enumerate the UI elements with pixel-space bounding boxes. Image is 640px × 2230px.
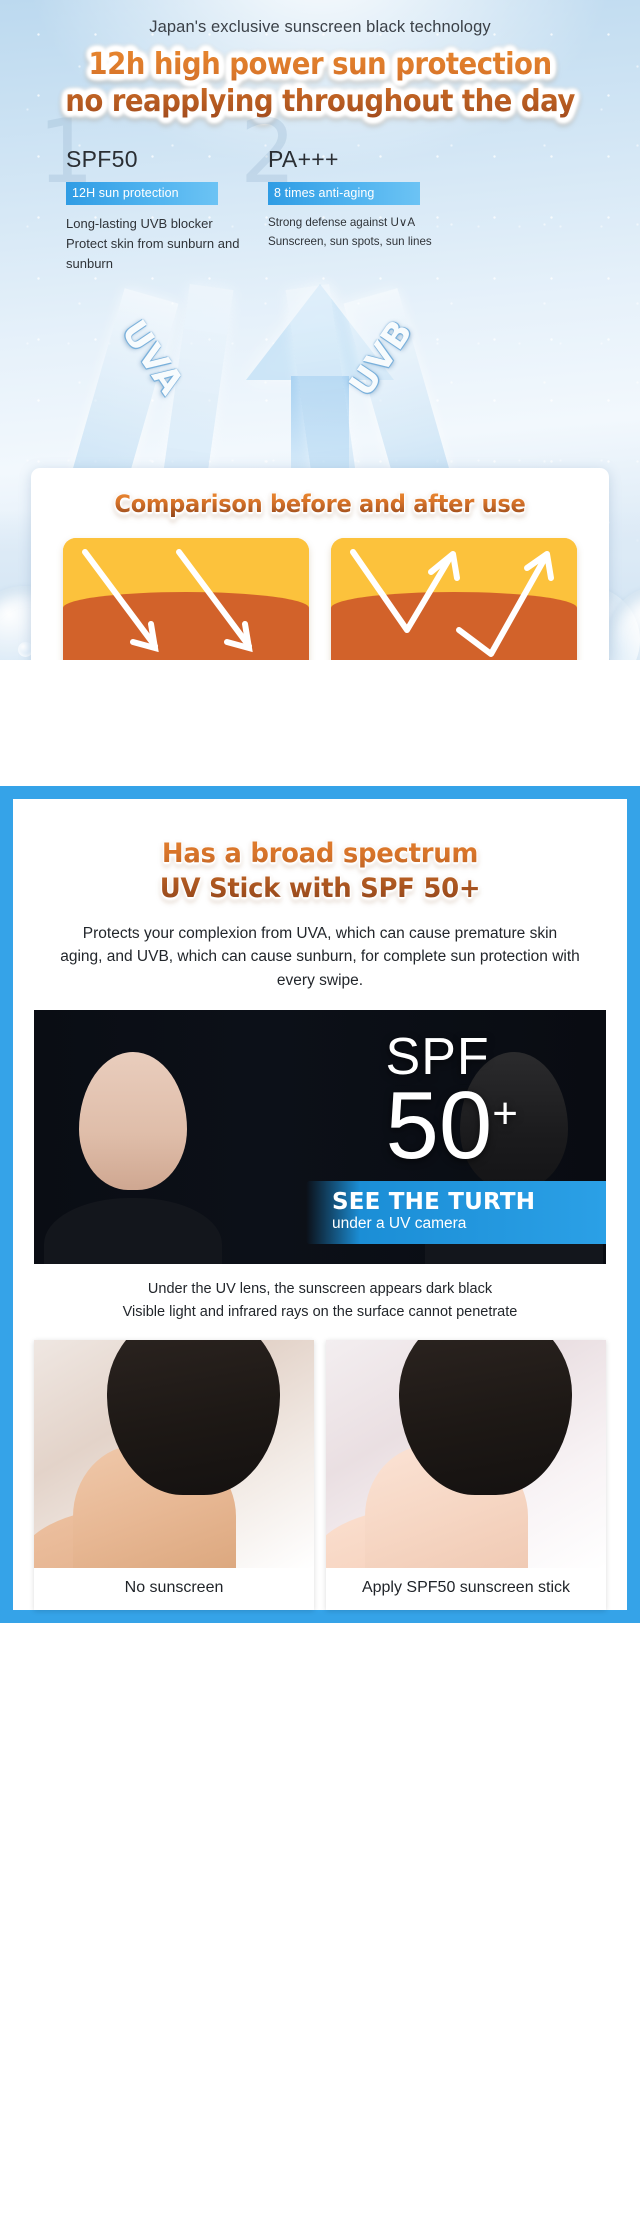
hero-headline: 12h high power sun protection no reapply… xyxy=(26,47,615,120)
feature-tag-2: 8 times anti-aging xyxy=(268,182,420,205)
feature-desc-2: Strong defense against U∨A Sunscreen, su… xyxy=(268,214,450,252)
shoulders xyxy=(44,1198,222,1264)
see-the-truth-banner: SEE THE TURTH under a UV camera xyxy=(306,1181,606,1244)
spf-plus: + xyxy=(492,1089,518,1138)
uv-camera-photo: SPF 50+ SEE THE TURTH under a UV camera xyxy=(34,1010,606,1264)
hero-eyebrow: Japan's exclusive sunscreen black techno… xyxy=(0,0,640,37)
uv-caption-line-2: Visible light and infrared rays on the s… xyxy=(40,1301,600,1324)
penetrating-rays-icon xyxy=(63,538,309,660)
reflected-rays-icon xyxy=(331,538,577,660)
feature-title-1: SPF50 xyxy=(66,146,248,173)
section2-paragraph: Protects your complexion from UVA, which… xyxy=(60,922,580,992)
comparison-card: Comparison before and after use xyxy=(31,468,609,660)
broad-spectrum-section: Has a broad spectrum UV Stick with SPF 5… xyxy=(0,786,640,1623)
photo-with-sunscreen xyxy=(326,1340,606,1568)
skin-panel-no-sunscreen: NO SUNSCREEN xyxy=(63,538,309,660)
product-detail-page: Japan's exclusive sunscreen black techno… xyxy=(0,0,640,1623)
photo-caption-no-sunscreen: No sunscreen xyxy=(34,1568,314,1610)
feature-tag-1: 12H sun protection xyxy=(66,182,218,205)
spf-value: 50 xyxy=(386,1082,493,1170)
spf-overlay-text: SPF 50+ xyxy=(386,1034,518,1170)
before-after-photo-row: No sunscreen Apply SPF50 sunscreen stick xyxy=(34,1340,606,1610)
section2-heading-line-1: Has a broad spectrum xyxy=(25,837,614,872)
section2-heading: Has a broad spectrum UV Stick with SPF 5… xyxy=(25,813,614,906)
feature-pa-plus: 2 PA+++ 8 times anti-aging Strong defens… xyxy=(268,146,450,273)
feature-spf50: 1 SPF50 12H sun protection Long-lasting … xyxy=(66,146,248,273)
headline-line-1: 12h high power sun protection xyxy=(26,47,615,84)
hero-section: Japan's exclusive sunscreen black techno… xyxy=(0,0,640,660)
uv-caption-line-1: Under the UV lens, the sunscreen appears… xyxy=(40,1278,600,1301)
uv-photo-caption: Under the UV lens, the sunscreen appears… xyxy=(40,1278,600,1324)
face-normal-light xyxy=(40,1034,225,1264)
banner-subtitle: under a UV camera xyxy=(332,1215,590,1233)
photo-card-no-sunscreen: No sunscreen xyxy=(34,1340,314,1610)
banner-title: SEE THE TURTH xyxy=(332,1190,590,1214)
feature-title-2: PA+++ xyxy=(268,146,450,173)
section2-heading-line-2: UV Stick with SPF 50+ xyxy=(25,872,614,907)
head xyxy=(79,1052,187,1190)
skin-panel-row: NO SUNSCREEN WITH S xyxy=(31,538,609,660)
photo-caption-with-sunscreen: Apply SPF50 sunscreen stick xyxy=(326,1568,606,1610)
skin-panel-with-sunscreen: WITH SUNSCREEN xyxy=(331,538,577,660)
photo-card-with-sunscreen: Apply SPF50 sunscreen stick xyxy=(326,1340,606,1610)
feature-desc-1: Long-lasting UVB blocker Protect skin fr… xyxy=(66,214,248,273)
headline-line-2: no reapplying throughout the day xyxy=(26,84,615,121)
comparison-title: Comparison before and after use xyxy=(48,490,591,518)
photo-no-sunscreen xyxy=(34,1340,314,1568)
feature-list: 1 SPF50 12H sun protection Long-lasting … xyxy=(0,146,640,273)
